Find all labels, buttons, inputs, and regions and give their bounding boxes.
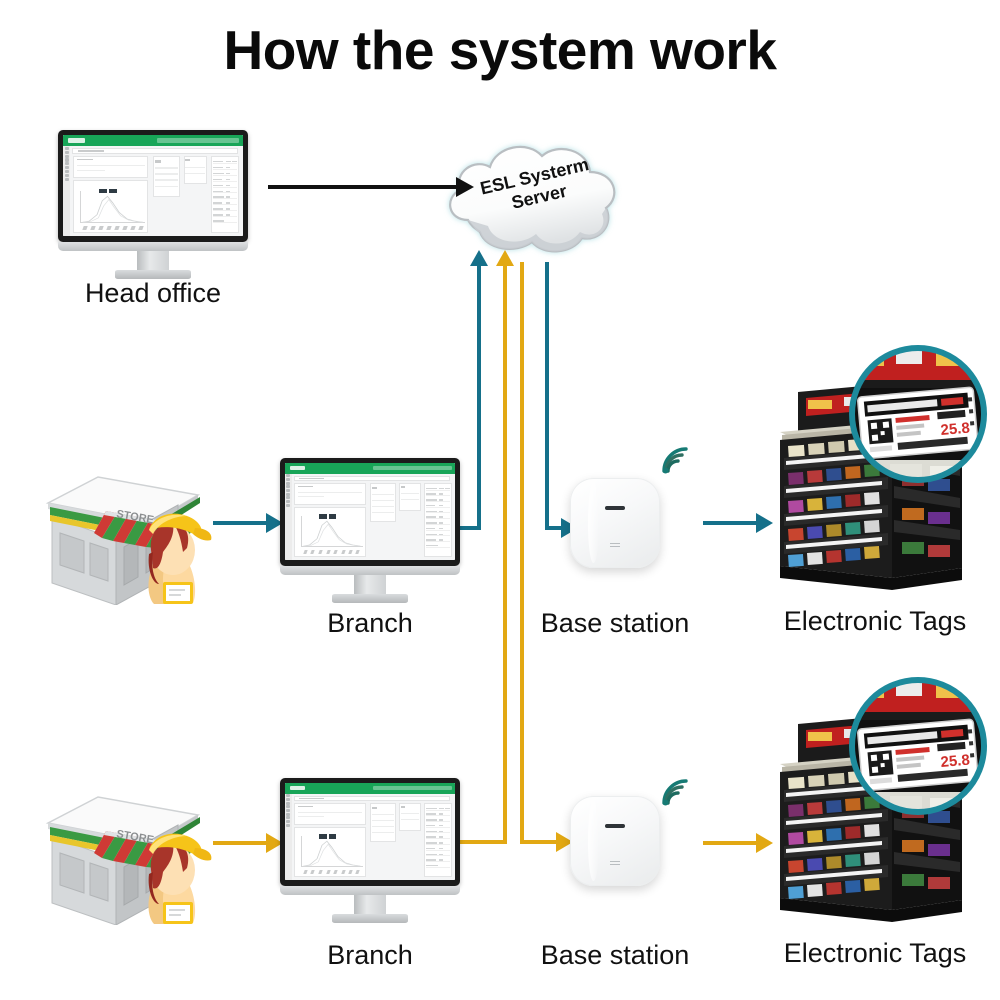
connector-cloud-to-base-station-bottom [520, 262, 524, 844]
wifi-signal-top [659, 444, 693, 476]
head-office-label: Head office [38, 278, 268, 309]
base-station-bottom-label: Base station [520, 940, 710, 971]
access-point-brand-mark [610, 543, 621, 549]
access-point-vent [605, 824, 625, 828]
connector-head-office-to-cloud-arrowhead [456, 177, 474, 197]
diagram-canvas: How the system work [0, 0, 1000, 1000]
access-point-brand-mark [610, 861, 621, 867]
access-point-icon [570, 478, 660, 568]
cloud-server: ESL Systerm Server [432, 128, 632, 278]
magnifier-callout-top: 25.8 [844, 340, 992, 488]
store-clerk-icon [135, 828, 215, 926]
access-point-highlight [588, 801, 599, 880]
connector-store-bottom-to-branch-bottom [213, 841, 271, 845]
tags-bottom: 25.8 [762, 672, 992, 927]
base-station-top-label: Base station [520, 608, 710, 639]
magnifier-callout-icon: 25.8 [844, 672, 992, 820]
branch-bottom-label: Branch [265, 940, 475, 971]
tags-bottom-label: Electronic Tags [755, 938, 995, 969]
dashboard-screen [63, 135, 243, 236]
connector-base-station-bottom-to-tags-bottom [703, 841, 761, 845]
head-office-screen [63, 135, 243, 236]
svg-text:25.8: 25.8 [940, 752, 971, 771]
wifi-signal-icon [659, 444, 693, 476]
connector-branch-top-to-cloud-arrowhead [470, 250, 488, 266]
access-point-highlight [588, 483, 599, 562]
connector-branch-bottom-to-cloud [503, 262, 507, 844]
wifi-signal-icon [659, 776, 693, 808]
connector-head-office-to-cloud [268, 185, 462, 189]
connector-branch-top-to-cloud [477, 262, 481, 530]
page-title: How the system work [0, 20, 1000, 81]
tags-top: 25.8 [762, 340, 992, 595]
connector-base-station-top-to-tags-top [703, 521, 761, 525]
branch-bottom-monitor [280, 778, 460, 908]
store-clerk-top [135, 508, 215, 606]
branch-top-monitor [280, 458, 460, 588]
base-station-bottom [570, 796, 660, 886]
connector-branch-bottom-to-cloud-arrowhead [496, 250, 514, 266]
store-clerk-bottom [135, 828, 215, 926]
magnifier-callout-icon: 25.8 [844, 340, 992, 488]
magnifier-callout-bottom: 25.8 [844, 672, 992, 820]
base-station-top [570, 478, 660, 568]
connector-cloud-to-base-station-bottom-leg [520, 840, 560, 844]
wifi-signal-bottom [659, 776, 693, 808]
branch-bottom-screen [285, 783, 455, 880]
branch-top-screen [285, 463, 455, 560]
access-point-vent [605, 506, 625, 510]
connector-cloud-to-base-station-top [545, 262, 549, 530]
connector-store-top-to-branch-top [213, 521, 271, 525]
svg-text:25.8: 25.8 [940, 420, 971, 439]
store-clerk-icon [135, 508, 215, 606]
access-point-icon [570, 796, 660, 886]
tags-top-label: Electronic Tags [755, 606, 995, 637]
branch-top-label: Branch [265, 608, 475, 639]
head-office-monitor [58, 130, 248, 265]
